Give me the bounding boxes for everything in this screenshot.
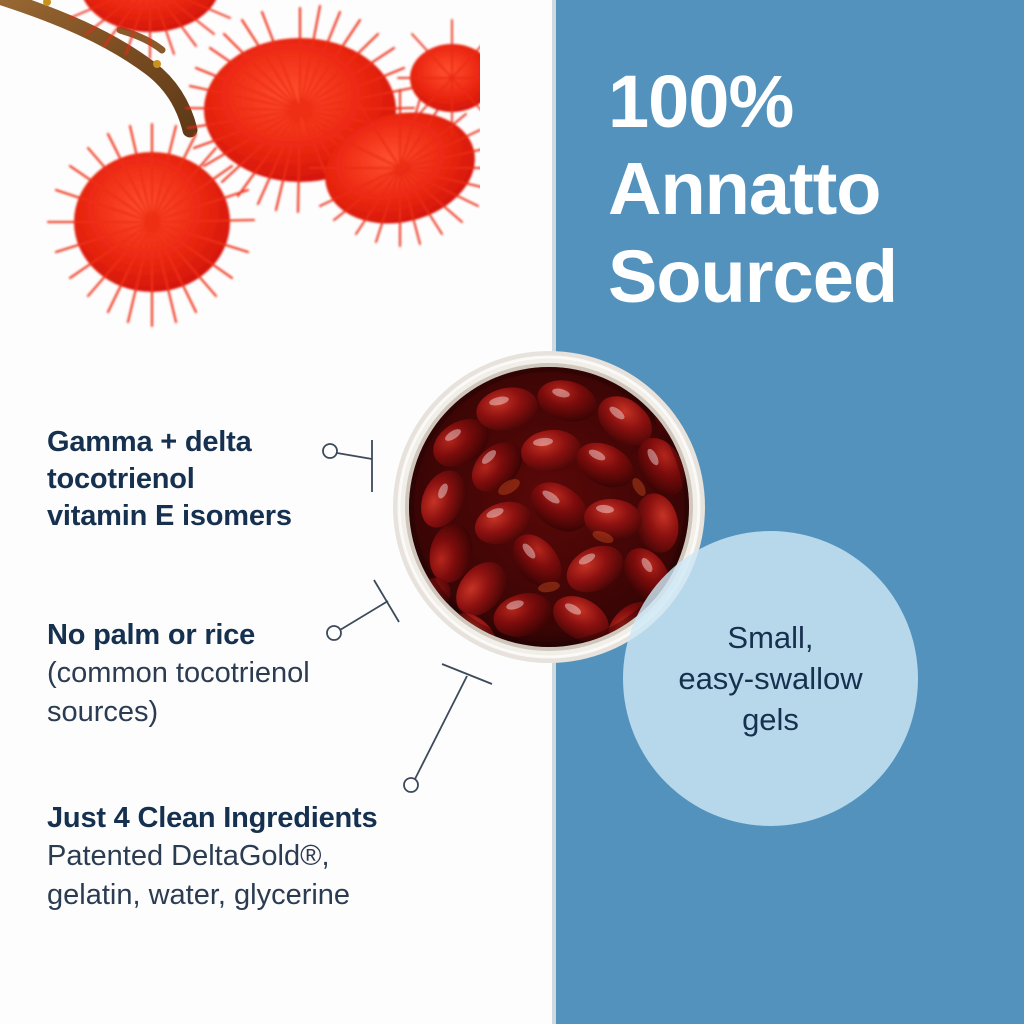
- badge-line-3: gels: [742, 699, 799, 740]
- callout-3-line-1: Just 4 Clean Ingredients: [47, 800, 517, 837]
- callout-2-line-1: No palm or rice: [47, 617, 397, 654]
- badge-line-2: easy-swallow: [678, 658, 862, 699]
- callout-clean-ingredients: Just 4 Clean Ingredients Patented DeltaG…: [47, 800, 517, 914]
- easy-swallow-badge-text: Small, easy-swallow gels: [623, 531, 918, 826]
- annatto-pods-image: [0, 0, 480, 330]
- callout-2-line-3: sources): [47, 693, 397, 732]
- product-infographic: Small, easy-swallow gels 100% Annatto So…: [0, 0, 1024, 1024]
- callout-3-line-3: gelatin, water, glycerine: [47, 876, 517, 915]
- callout-1-line-2: tocotrienol: [47, 461, 377, 498]
- callout-1-line-1: Gamma + delta: [47, 424, 377, 461]
- leader-line-3: [404, 664, 492, 792]
- callout-2-line-2: (common tocotrienol: [47, 654, 397, 693]
- badge-line-1: Small,: [727, 617, 813, 658]
- callout-3-line-2: Patented DeltaGold®,: [47, 837, 517, 876]
- callout-no-palm-or-rice: No palm or rice (common tocotrienol sour…: [47, 617, 397, 731]
- callout-tocotrienol-isomers: Gamma + delta tocotrienol vitamin E isom…: [47, 424, 377, 535]
- callout-1-line-3: vitamin E isomers: [47, 498, 377, 535]
- headline-line-3: Sourced: [608, 233, 1008, 320]
- headline: 100% Annatto Sourced: [608, 58, 1008, 320]
- headline-line-2: Annatto: [608, 145, 1008, 232]
- headline-line-1: 100%: [608, 58, 1008, 145]
